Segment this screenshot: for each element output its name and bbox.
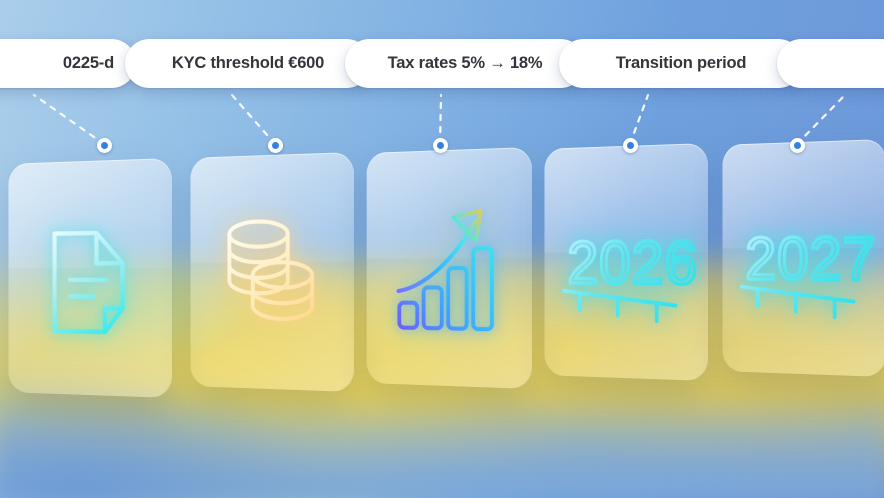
label-pill-2[interactable]: KYC threshold €600 [125,39,371,88]
year-label-2027: 2027 [745,224,876,294]
label-pill-5[interactable]: Full ra [777,39,884,88]
growth-chart-icon [367,193,532,343]
timeline-infographic: 2026 [0,0,884,498]
glass-card-coins[interactable] [190,152,354,392]
label-pill-1[interactable]: 0225-d [0,39,136,88]
document-icon [8,212,172,352]
glass-card-growth[interactable] [367,147,532,389]
glass-card-2027[interactable]: 2027 [722,139,884,377]
glass-card-2026[interactable]: 2026 [544,143,708,381]
year-ruler-icon: 2027 [722,201,884,331]
coins-stack-icon [190,204,354,344]
label-pill-4[interactable]: Transition period [559,39,803,88]
year-ruler-icon: 2026 [544,205,708,335]
label-pill-3[interactable]: Tax rates 5% → 18% [345,39,585,88]
glass-card-document[interactable] [8,158,172,398]
year-label-2026: 2026 [567,228,698,298]
